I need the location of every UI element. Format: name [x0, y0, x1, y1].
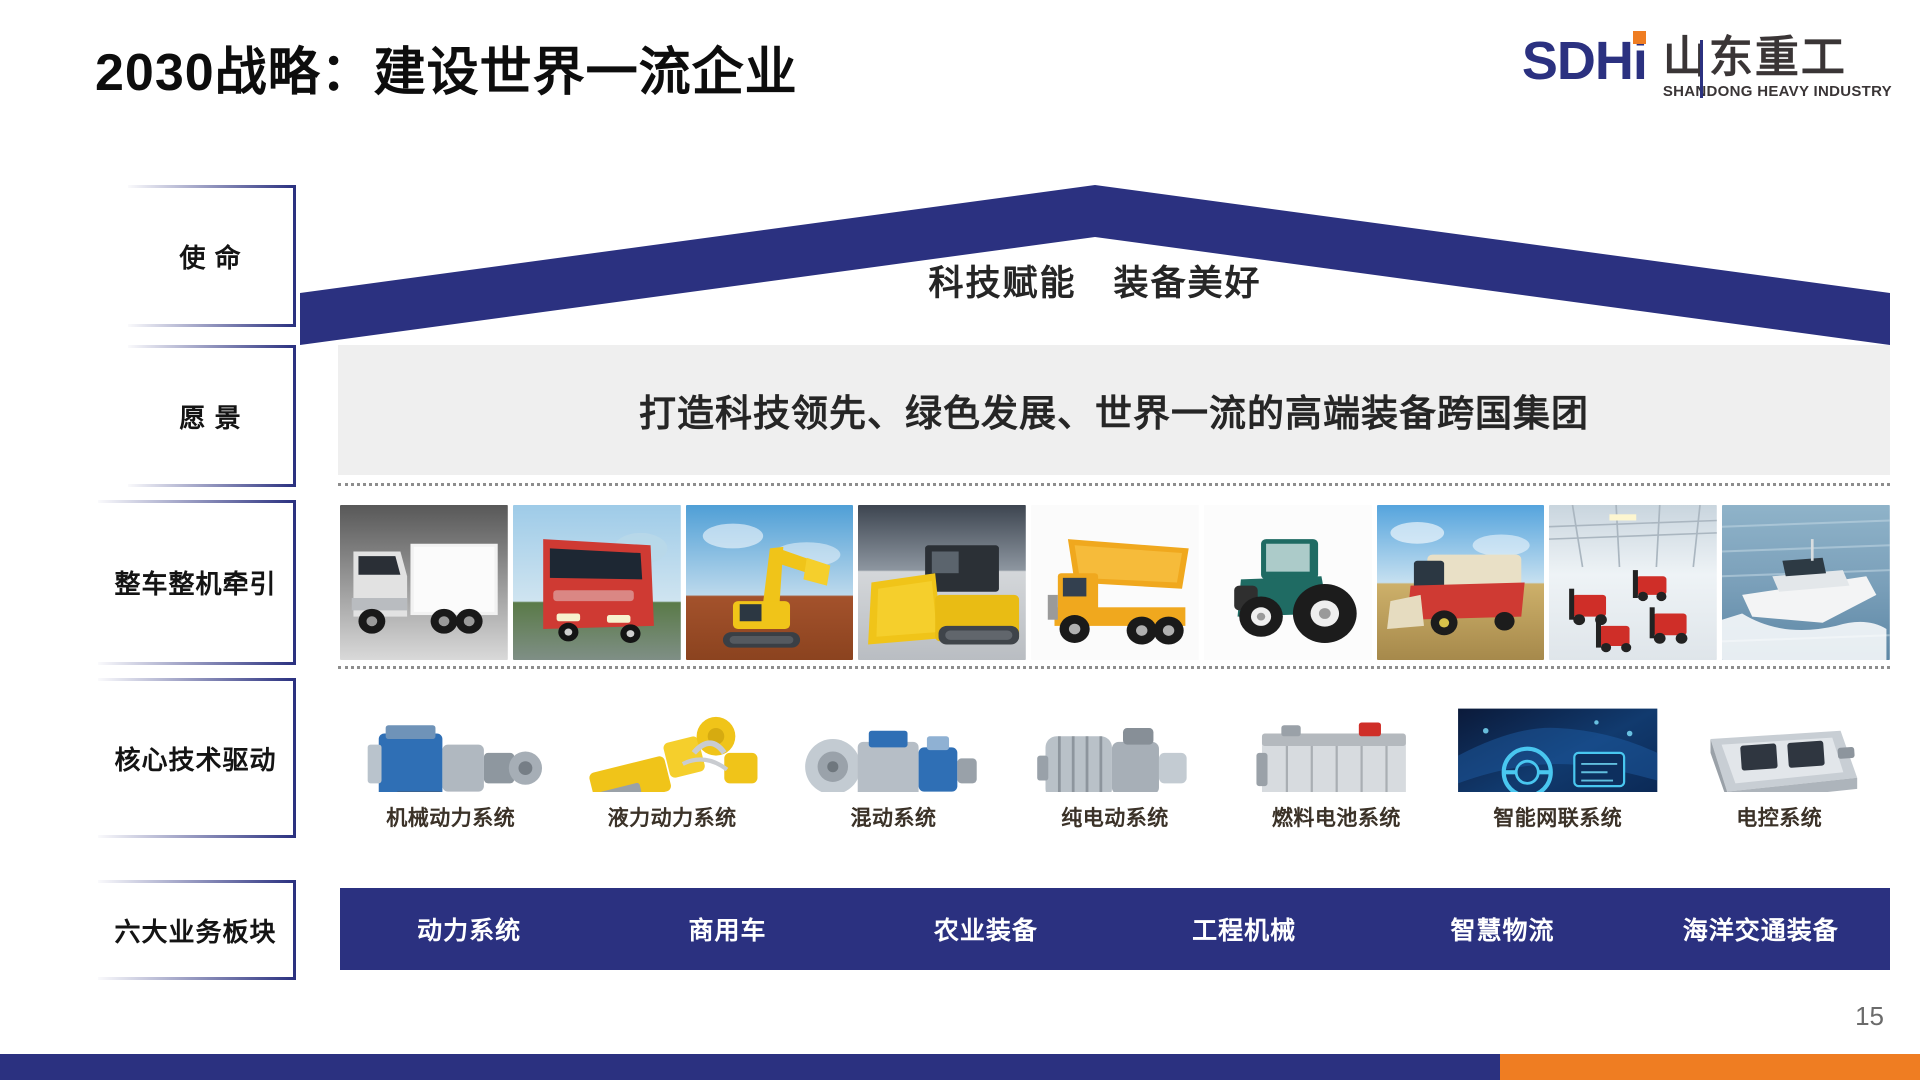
- vehicle-photo-bulldozer: [858, 505, 1026, 660]
- logo-mark-text: SDHi: [1522, 34, 1647, 88]
- technology-item-electric-drive: 纯电动系统: [1004, 682, 1225, 832]
- technology-label: 智能网联系统: [1493, 802, 1622, 832]
- logo-company-name-cn: 山东重工: [1663, 35, 1892, 81]
- electric-drive-icon: [1004, 692, 1225, 792]
- technology-label: 纯电动系统: [1061, 802, 1169, 832]
- mission-statement: 科技赋能 装备美好: [300, 255, 1890, 306]
- vehicle-photo-strip: [340, 505, 1890, 660]
- vehicle-photo-excavator: [686, 505, 854, 660]
- technology-label: 混动系统: [851, 802, 937, 832]
- divider-vision-vehicles: [338, 483, 1890, 486]
- electronic-control-icon: [1669, 692, 1890, 792]
- vehicle-photo-yacht: [1722, 505, 1890, 660]
- footer-bar-accent: [1500, 1054, 1920, 1080]
- technology-item-fuel-cell: 燃料电池系统: [1226, 682, 1447, 832]
- harvester-image: [1377, 505, 1545, 660]
- business-segment-item[interactable]: 工程机械: [1115, 911, 1373, 947]
- page-number: 15: [1855, 1001, 1884, 1032]
- logo-mark-label: SDHi: [1522, 31, 1647, 91]
- forklift-warehouse-image: [1549, 505, 1717, 660]
- page-title: 2030战略：建设世界一流企业: [95, 30, 798, 105]
- logo-company-name-en: SHANDONG HEAVY INDUSTRY: [1663, 83, 1892, 100]
- business-segment-item[interactable]: 商用车: [598, 911, 856, 947]
- hydraulic-powertrain-icon: [561, 692, 782, 792]
- vision-statement: 打造科技领先、绿色发展、世界一流的高端装备跨国集团: [639, 383, 1589, 437]
- excavator-image: [686, 505, 854, 660]
- row-label-text: 核心技术驱动: [114, 740, 276, 777]
- business-segment-item[interactable]: 海洋交通装备: [1632, 911, 1890, 947]
- vehicle-photo-heavy-truck: [340, 505, 508, 660]
- row-label-vehicle-traction: 整车整机牵引: [98, 500, 296, 665]
- technology-label: 燃料电池系统: [1272, 802, 1401, 832]
- business-segment-item[interactable]: 动力系统: [340, 911, 598, 947]
- row-label-text: 愿 景: [179, 398, 241, 435]
- yacht-image: [1722, 505, 1890, 660]
- row-label-core-technology: 核心技术驱动: [98, 678, 296, 838]
- footer-bar-primary: [0, 1054, 1500, 1080]
- technology-item-electronic-control: 电控系统: [1669, 682, 1890, 832]
- row-label-vision: 愿 景: [128, 345, 296, 487]
- technology-item-smart-cockpit: 智能网联系统: [1447, 682, 1668, 832]
- vehicle-photo-mining-dump-truck: [1031, 505, 1199, 660]
- tractor-image: [1204, 505, 1372, 660]
- technology-item-hybrid-powertrain: 混动系统: [783, 682, 1004, 832]
- company-logo: SDHi 山东重工 SHANDONG HEAVY INDUSTRY: [1522, 34, 1892, 100]
- technology-strip: 机械动力系统 液力动力系统: [340, 682, 1890, 832]
- divider-vehicles-technologies: [338, 666, 1890, 669]
- technology-label: 电控系统: [1736, 802, 1822, 832]
- mechanical-powertrain-icon: [340, 692, 561, 792]
- row-label-text: 使 命: [179, 238, 241, 275]
- fuel-cell-icon: [1226, 692, 1447, 792]
- technology-item-mechanical-powertrain: 机械动力系统: [340, 682, 561, 832]
- logo-divider: [1700, 40, 1703, 98]
- mission-roof: 科技赋能 装备美好: [300, 185, 1890, 345]
- slide-root: 2030战略：建设世界一流企业 SDHi 山东重工 SHANDONG HEAVY…: [0, 0, 1920, 1080]
- mining-dump-truck-image: [1031, 505, 1199, 660]
- row-label-mission: 使 命: [128, 185, 296, 327]
- business-segment-item[interactable]: 农业装备: [857, 911, 1115, 947]
- row-label-text: 六大业务板块: [114, 912, 276, 949]
- technology-item-hydraulic-powertrain: 液力动力系统: [561, 682, 782, 832]
- bulldozer-image: [858, 505, 1026, 660]
- technology-label: 液力动力系统: [608, 802, 737, 832]
- heavy-truck-image: [340, 505, 508, 660]
- row-label-six-business-segments: 六大业务板块: [98, 880, 296, 980]
- technology-label: 机械动力系统: [386, 802, 515, 832]
- smart-cockpit-icon: [1447, 692, 1668, 792]
- vehicle-photo-forklift-warehouse: [1549, 505, 1717, 660]
- vehicle-photo-coach-bus: [513, 505, 681, 660]
- hybrid-powertrain-icon: [783, 692, 1004, 792]
- row-label-text: 整车整机牵引: [114, 564, 276, 601]
- business-segment-item[interactable]: 智慧物流: [1373, 911, 1631, 947]
- vision-band: 打造科技领先、绿色发展、世界一流的高端装备跨国集团: [338, 345, 1890, 475]
- logo-accent-dot-icon: [1633, 31, 1646, 44]
- business-segments-bar: 动力系统 商用车 农业装备 工程机械 智慧物流 海洋交通装备: [340, 888, 1890, 970]
- coach-bus-image: [513, 505, 681, 660]
- vehicle-photo-tractor: [1204, 505, 1372, 660]
- vehicle-photo-harvester: [1377, 505, 1545, 660]
